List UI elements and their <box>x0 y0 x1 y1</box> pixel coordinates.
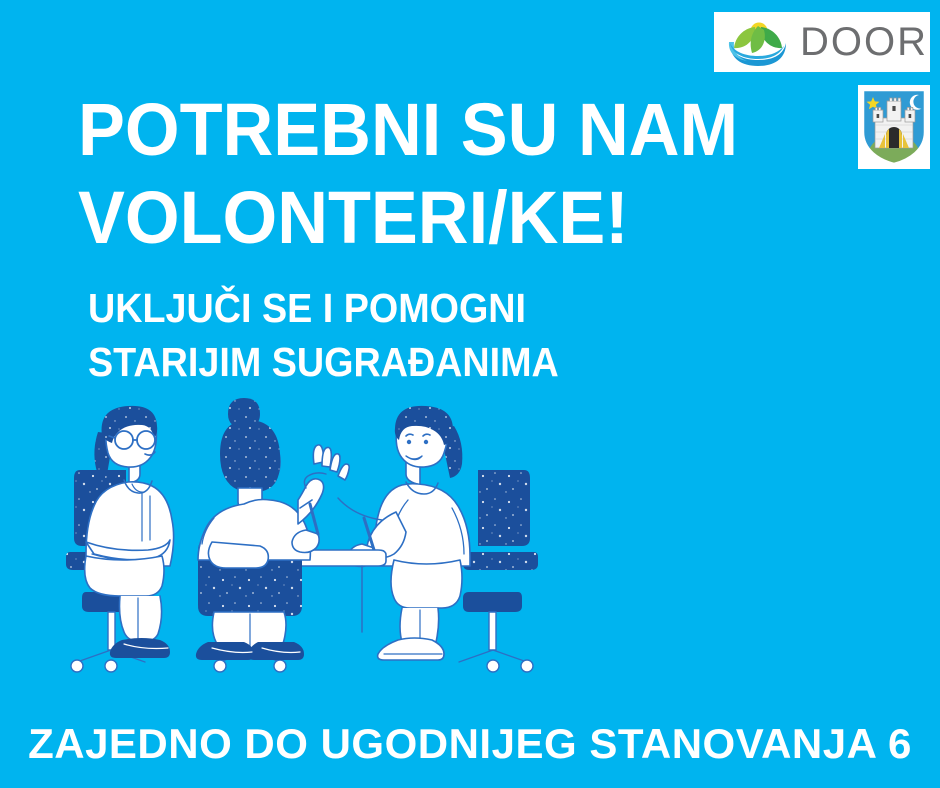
person-right <box>338 406 470 660</box>
subheading-line-1: UKLJUČI SE I POMOGNI <box>88 281 559 335</box>
door-logo: DOOR <box>714 12 930 72</box>
door-wordmark: DOOR <box>800 22 928 62</box>
headline: POTREBNI SU NAM VOLONTERI/KE! <box>78 86 738 262</box>
zagreb-coat-of-arms-icon <box>858 85 930 169</box>
headline-line-1: POTREBNI SU NAM <box>78 86 738 174</box>
subheading-line-2: STARIJIM SUGRAĐANIMA <box>88 335 559 389</box>
person-center <box>196 398 349 660</box>
headline-line-2: VOLONTERI/KE! <box>78 174 738 262</box>
meeting-illustration <box>62 392 542 692</box>
chair-right <box>459 470 538 672</box>
door-leaf-sun-icon <box>722 17 792 67</box>
footer-title: ZAJEDNO DO UGODNIJEG STANOVANJA 6 <box>0 718 940 770</box>
subheading: UKLJUČI SE I POMOGNI STARIJIM SUGRAĐANIM… <box>88 281 559 389</box>
poster-canvas: DOOR <box>0 0 940 788</box>
person-left <box>85 406 174 658</box>
